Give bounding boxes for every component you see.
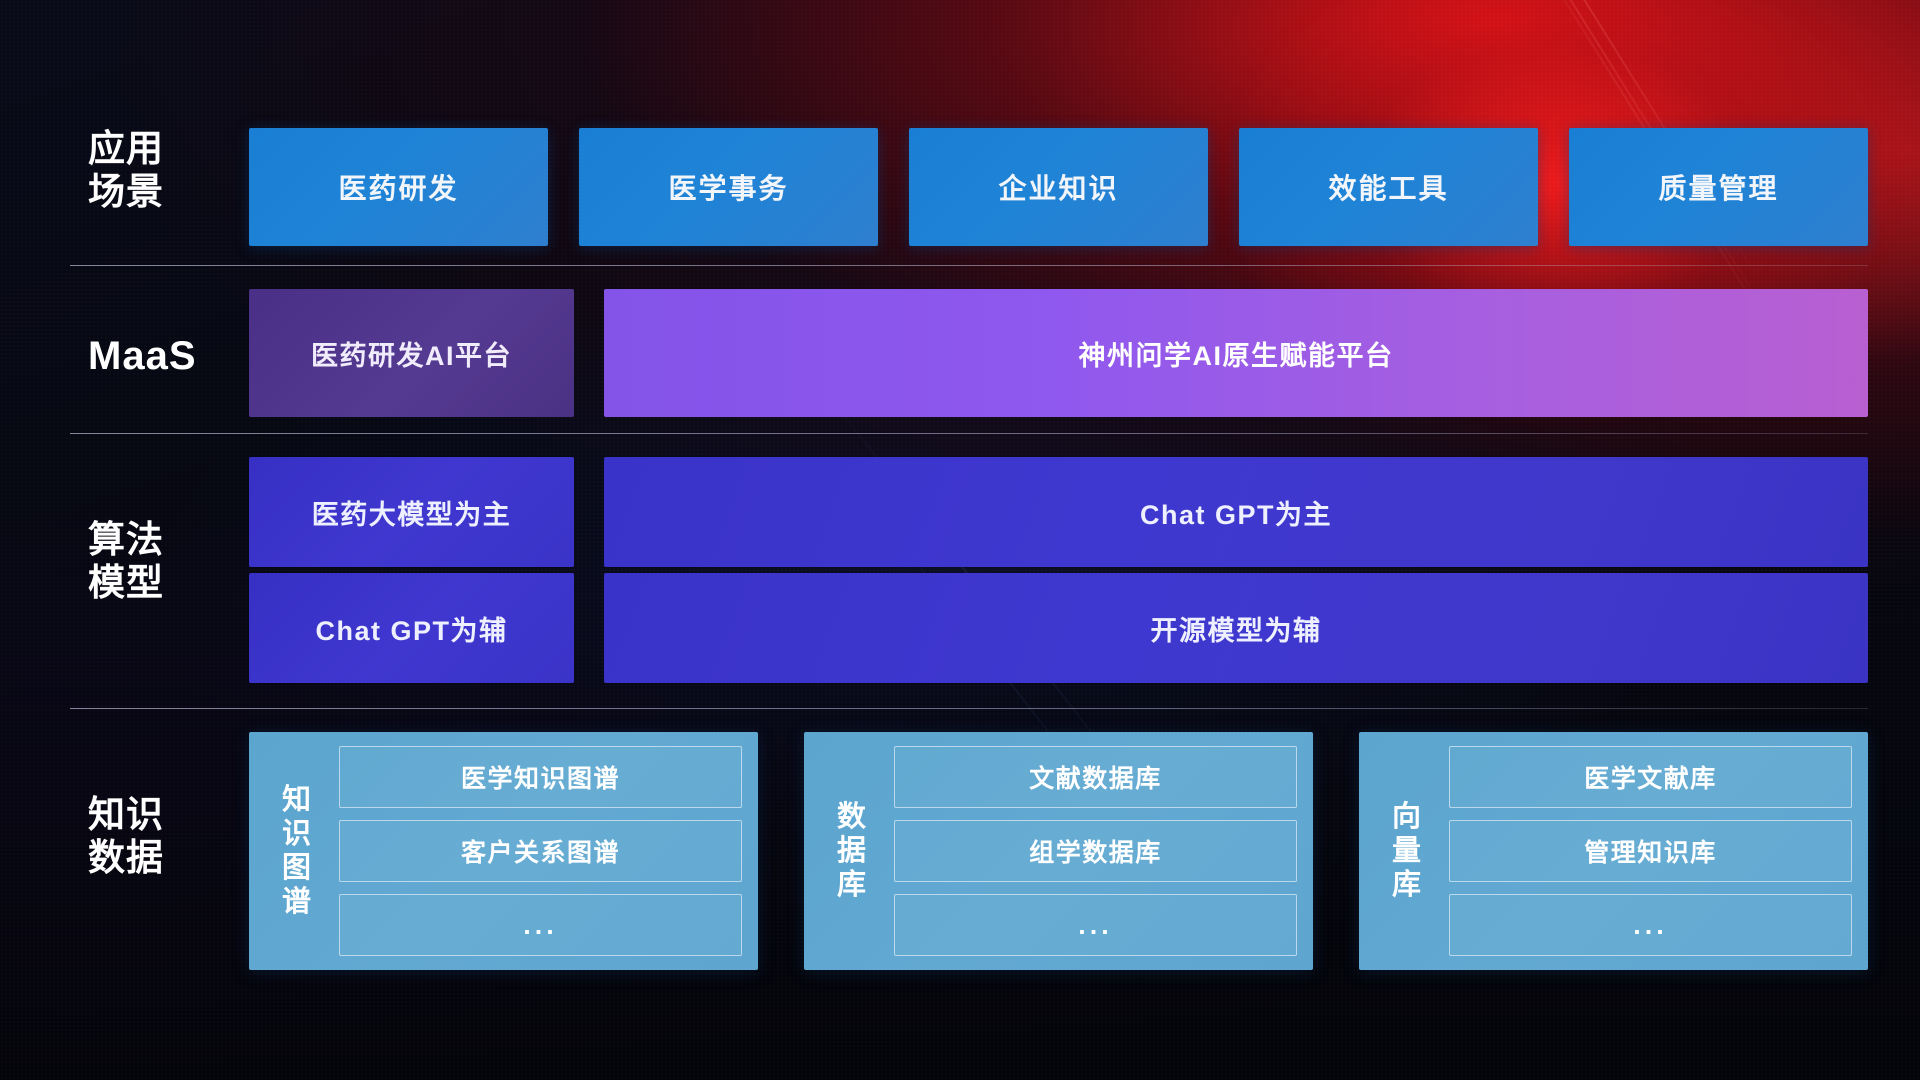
knowledge-item-list: 医学知识图谱 客户关系图谱 ... xyxy=(339,746,742,956)
knowledge-item-list: 文献数据库 组学数据库 ... xyxy=(894,746,1297,956)
maas-card-drug-rd-ai-platform[interactable]: 医药研发AI平台 xyxy=(249,289,574,417)
row-knowledge-data: 知识 数据 知识图谱 医学知识图谱 客户关系图谱 ... 数据库 文献数据库 组… xyxy=(0,732,1920,972)
knowledge-panel-track: 知识图谱 医学知识图谱 客户关系图谱 ... 数据库 文献数据库 组学数据库 .… xyxy=(249,732,1868,970)
diagram-stage: 应用 场景 医药研发 医学事务 企业知识 效能工具 质量管理 MaaS 医药研发… xyxy=(0,0,1920,1080)
divider-app-maas xyxy=(70,265,1868,266)
row-label-line2: 数据 xyxy=(88,837,233,880)
row-label-line1: 知识 xyxy=(88,794,233,837)
row-label-line2: 场景 xyxy=(88,171,233,214)
application-card-track: 医药研发 医学事务 企业知识 效能工具 质量管理 xyxy=(249,128,1868,246)
row-label-knowledge-data: 知识 数据 xyxy=(88,794,233,880)
app-card-efficiency-tools[interactable]: 效能工具 xyxy=(1239,128,1538,246)
algo-card-opensource-secondary[interactable]: 开源模型为辅 xyxy=(604,573,1868,683)
row-label-line1: 应用 xyxy=(88,128,233,171)
knowledge-item-medical-graph[interactable]: 医学知识图谱 xyxy=(339,746,742,808)
algo-card-pharma-llm-primary[interactable]: 医药大模型为主 xyxy=(249,457,574,567)
app-card-drug-rd[interactable]: 医药研发 xyxy=(249,128,548,246)
knowledge-item-management-knowledge[interactable]: 管理知识库 xyxy=(1449,820,1852,882)
knowledge-item-more[interactable]: ... xyxy=(339,894,742,956)
divider-algo-knowledge xyxy=(70,708,1868,709)
knowledge-item-medical-literature[interactable]: 医学文献库 xyxy=(1449,746,1852,808)
knowledge-panel-side-label: 向量库 xyxy=(1381,746,1433,956)
algo-card-chatgpt-secondary[interactable]: Chat GPT为辅 xyxy=(249,573,574,683)
app-card-enterprise-knowledge[interactable]: 企业知识 xyxy=(909,128,1208,246)
knowledge-panel-side-label: 知识图谱 xyxy=(271,746,323,956)
algo-card-chatgpt-primary[interactable]: Chat GPT为主 xyxy=(604,457,1868,567)
knowledge-panel-database[interactable]: 数据库 文献数据库 组学数据库 ... xyxy=(804,732,1313,970)
row-maas: MaaS 医药研发AI平台 神州问学AI原生赋能平台 xyxy=(0,289,1920,419)
knowledge-item-literature-db[interactable]: 文献数据库 xyxy=(894,746,1297,808)
knowledge-panel-knowledge-graph[interactable]: 知识图谱 医学知识图谱 客户关系图谱 ... xyxy=(249,732,758,970)
knowledge-panel-vector-store[interactable]: 向量库 医学文献库 管理知识库 ... xyxy=(1359,732,1868,970)
knowledge-item-list: 医学文献库 管理知识库 ... xyxy=(1449,746,1852,956)
knowledge-item-more[interactable]: ... xyxy=(894,894,1297,956)
app-card-quality-management[interactable]: 质量管理 xyxy=(1569,128,1868,246)
row-label-application-scenarios: 应用 场景 xyxy=(88,128,233,214)
divider-maas-algo xyxy=(70,433,1868,434)
knowledge-item-more[interactable]: ... xyxy=(1449,894,1852,956)
maas-card-shenzhou-wenxue[interactable]: 神州问学AI原生赋能平台 xyxy=(604,289,1868,417)
row-label-maas: MaaS xyxy=(88,333,233,379)
app-card-medical-affairs[interactable]: 医学事务 xyxy=(579,128,878,246)
knowledge-item-omics-db[interactable]: 组学数据库 xyxy=(894,820,1297,882)
algorithm-primary-line: 医药大模型为主 Chat GPT为主 xyxy=(0,457,1920,567)
algorithm-secondary-line: Chat GPT为辅 开源模型为辅 xyxy=(0,573,1920,683)
row-algorithm-models: 算法 模型 医药大模型为主 Chat GPT为主 Chat GPT为辅 开源模型… xyxy=(0,457,1920,697)
row-application-scenarios: 应用 场景 医药研发 医学事务 企业知识 效能工具 质量管理 xyxy=(0,128,1920,248)
knowledge-panel-side-label: 数据库 xyxy=(826,746,878,956)
knowledge-item-customer-graph[interactable]: 客户关系图谱 xyxy=(339,820,742,882)
